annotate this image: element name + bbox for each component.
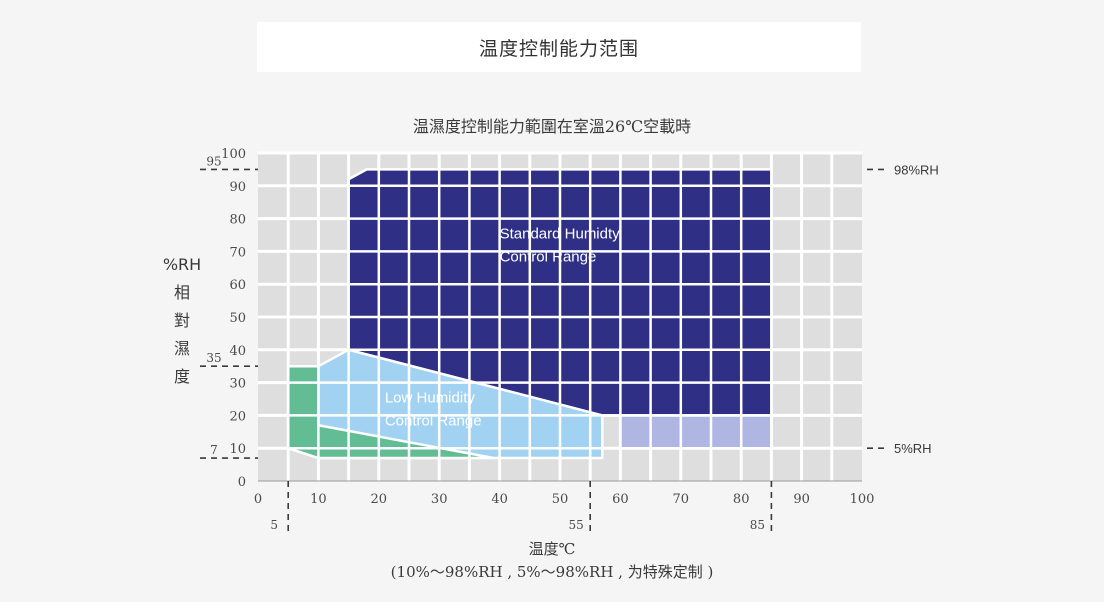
x-tick-label: 20 [371,492,388,507]
y-axis-title-part: %RH [163,255,201,274]
region-gridline-overlay [258,153,862,481]
x-tick-label: 80 [733,492,750,507]
x-tick-label: 60 [612,492,629,507]
x-tick-label: 40 [491,492,508,507]
y-tick-label: 20 [229,409,246,424]
y-ref-label: 7 [210,443,218,457]
x-ref-label: 85 [750,518,765,532]
y-tick-label: 100 [221,147,246,162]
x-axis-title: 温度℃ [0,538,1104,559]
x-tick-label: 30 [431,492,448,507]
y-tick-label: 80 [229,213,246,228]
right-ann-label: 98%RH [894,162,939,177]
y-axis-title: %RH相對濕度 [163,255,201,386]
y-ref-label: 35 [206,351,221,365]
x-tick-label: 10 [310,492,327,507]
x-tick-label: 50 [552,492,569,507]
y-tick-label: 60 [229,278,246,293]
right-annotations: 98%RH5%RH [867,162,939,456]
humidity-control-chart: 0102030405060708090100 01020304050607080… [0,0,1104,602]
y-tick-label: 50 [229,311,246,326]
y-axis-title-part: 相 [174,283,190,302]
y-tick-label: 30 [229,377,246,392]
x-tick-label: 0 [254,492,262,507]
x-axis-ticks: 0102030405060708090100 [254,492,875,507]
region-label-line: Standard Humidty [500,225,621,242]
x-tick-label: 90 [793,492,810,507]
region-label-line: Control Range [500,248,597,265]
y-tick-label: 90 [229,180,246,195]
region-label-line: Control Range [385,412,482,429]
y-tick-label: 70 [229,245,246,260]
y-axis-title-part: 濕 [174,339,190,358]
x-ref-label: 5 [270,518,278,532]
y-axis-title-part: 度 [174,367,190,386]
region-3 [620,415,771,448]
x-tick-label: 70 [673,492,690,507]
x-tick-label: 100 [850,492,875,507]
x-ref-label: 55 [569,518,584,532]
x-axis-note: (10%～98%RH , 5%～98%RH , 为特殊定制 ) [0,561,1104,582]
y-ref-label: 95 [206,154,221,168]
y-axis-ticks: 0102030405060708090100 [221,147,246,490]
y-axis-title-part: 對 [174,311,190,330]
region-label-line: Low Humidity [385,389,476,406]
right-ann-label: 5%RH [894,441,932,456]
y-tick-label: 40 [229,344,246,359]
y-tick-label: 10 [229,442,246,457]
y-tick-label: 0 [238,475,246,490]
